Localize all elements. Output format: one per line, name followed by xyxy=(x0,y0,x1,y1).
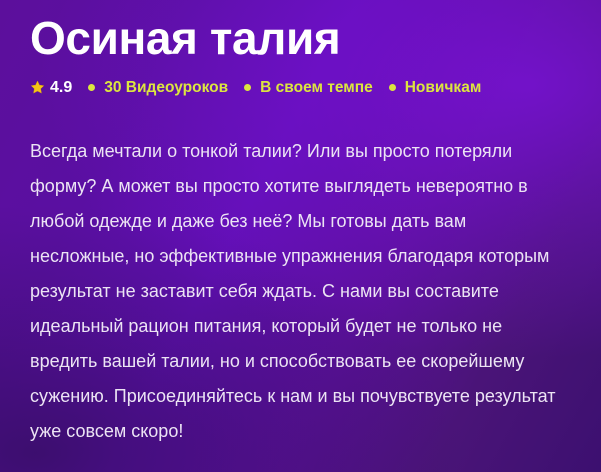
meta-item-lessons: 30 Видеоуроков xyxy=(104,80,228,96)
meta-item-pace: В своем темпе xyxy=(260,80,373,96)
page-title: Осиная талия xyxy=(30,0,571,68)
meta-separator-dot-2 xyxy=(244,84,251,91)
rating-group: 4.9 xyxy=(30,80,72,96)
course-description: Всегда мечтали о тонкой талии? Или вы пр… xyxy=(30,96,558,449)
meta-separator-dot-3 xyxy=(389,84,396,91)
course-promo-card: Осиная талия 4.9 30 Видеоуроков В своем … xyxy=(0,0,601,472)
course-meta-row: 4.9 30 Видеоуроков В своем темпе Новичка… xyxy=(30,80,571,96)
meta-item-level: Новичкам xyxy=(405,80,482,96)
rating-value: 4.9 xyxy=(50,80,72,96)
star-icon xyxy=(30,80,45,95)
meta-separator-dot-1 xyxy=(88,84,95,91)
card-content: Осиная талия 4.9 30 Видеоуроков В своем … xyxy=(0,0,601,449)
